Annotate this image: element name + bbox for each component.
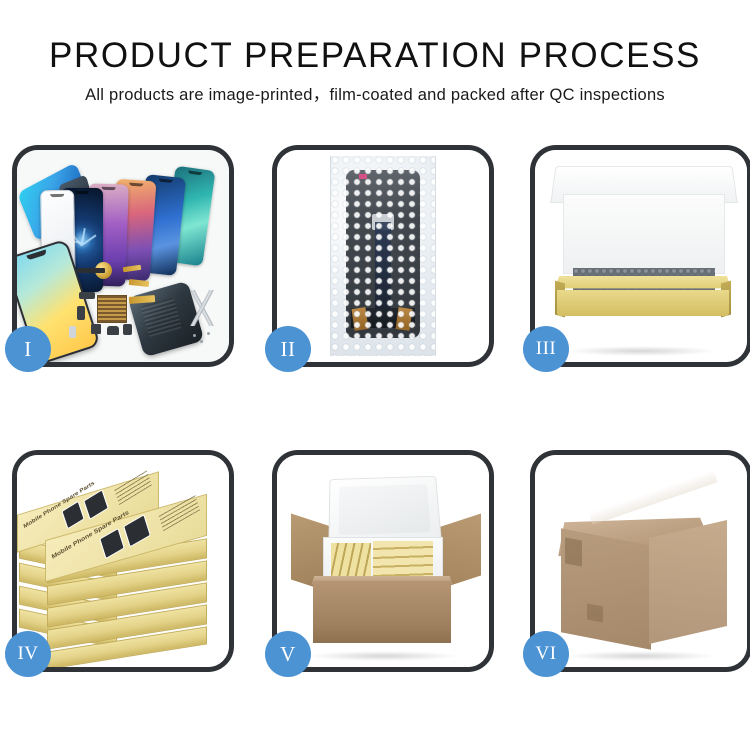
yellow-box-front — [557, 290, 729, 316]
step-badge-3: III — [523, 326, 569, 372]
camera-part — [123, 324, 132, 335]
carton-tab — [565, 537, 582, 566]
step-badge-5: V — [265, 631, 311, 677]
box-rim — [555, 276, 732, 288]
drop-shadow — [565, 346, 718, 356]
step-5-image — [277, 455, 489, 667]
carton-front — [313, 581, 451, 643]
carton-side-face — [649, 520, 727, 644]
step-3-image — [535, 150, 747, 362]
step-4-image: Mobile Phone Spare Parts Mobile Phone Sp… — [17, 455, 229, 667]
drop-shadow — [565, 651, 718, 661]
step-1-image — [17, 150, 229, 362]
notch-icon — [75, 191, 89, 194]
screw-icon — [200, 340, 203, 343]
product-window — [99, 528, 125, 559]
bubble-texture — [331, 156, 435, 356]
spec-lines — [114, 469, 152, 504]
button-part — [91, 324, 101, 334]
process-step-5: V — [272, 450, 494, 672]
sim-tray-part — [69, 326, 76, 338]
product-window — [83, 489, 109, 520]
spec-lines — [158, 493, 200, 532]
notch-icon — [188, 170, 202, 175]
carton-tab — [587, 603, 603, 622]
drop-shadow — [307, 651, 460, 661]
foam-backing — [563, 194, 725, 274]
screw-tray-part — [97, 295, 127, 323]
process-step-4: Mobile Phone Spare Parts Mobile Phone Sp… — [12, 450, 234, 672]
process-step-1: I — [12, 145, 234, 367]
process-step-2: II — [272, 145, 494, 367]
process-step-grid: I II — [0, 0, 750, 750]
screw-icon — [193, 334, 196, 337]
step-badge-1: I — [5, 326, 51, 372]
notch-icon — [50, 194, 64, 197]
product-window — [61, 501, 84, 530]
step-2-image — [277, 150, 489, 362]
bubble-wrap-bag — [330, 156, 436, 356]
earpiece-part — [77, 268, 105, 273]
step-6-image — [535, 455, 747, 667]
step-badge-6: VI — [523, 631, 569, 677]
connector-part — [77, 306, 85, 320]
step-badge-4: IV — [5, 631, 51, 677]
flex-cable-part — [129, 279, 150, 287]
screw-icon — [207, 332, 210, 335]
step-badge-2: II — [265, 326, 311, 372]
notch-icon — [159, 179, 173, 183]
tweezers-icon — [179, 290, 225, 326]
process-step-6: VI — [530, 450, 750, 672]
product-window — [123, 514, 151, 547]
notch-icon — [102, 187, 116, 190]
speaker-part — [107, 326, 119, 335]
notch-icon — [129, 183, 143, 187]
process-step-3: III — [530, 145, 750, 367]
connector-part — [79, 292, 95, 299]
